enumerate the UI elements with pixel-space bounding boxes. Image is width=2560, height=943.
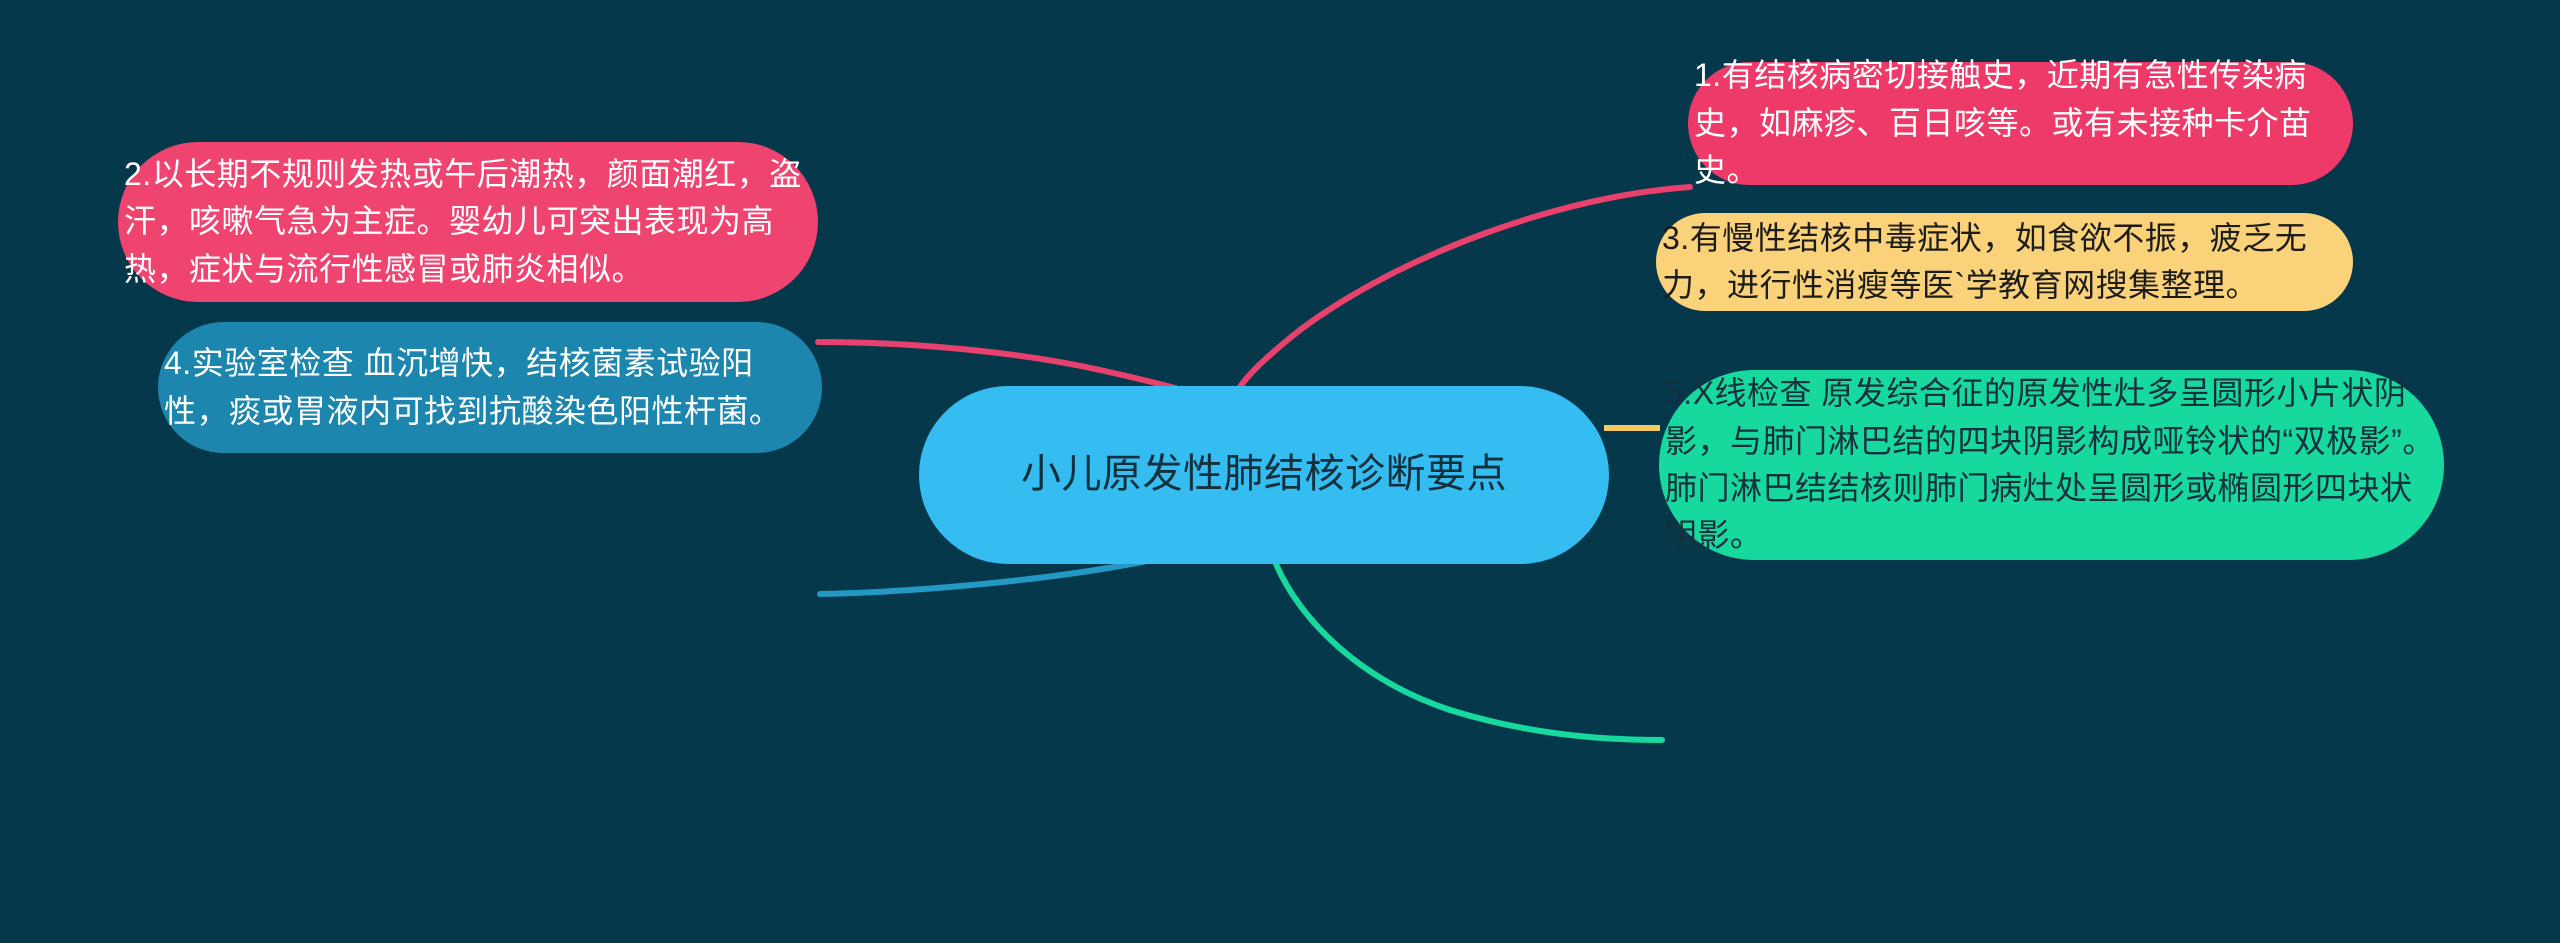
connector-node-2 xyxy=(818,342,1186,391)
connector-node-1 xyxy=(1238,187,1690,390)
mindmap-branch-node-2[interactable]: 2.以长期不规则发热或午后潮热，颜面潮红，盗汗，咳嗽气急为主症。婴幼儿可突出表现… xyxy=(118,142,818,302)
mindmap-branch-node-1[interactable]: 1.有结核病密切接触史，近期有急性传染病史，如麻疹、百日咳等。或有未接种卡介苗史… xyxy=(1688,62,2353,185)
mindmap-branch-node-5[interactable]: 5.X线检查 原发综合征的原发性灶多呈圆形小片状阴影，与肺门淋巴结的四块阴影构成… xyxy=(1659,370,2444,560)
center-node-label: 小儿原发性肺结核诊断要点 xyxy=(919,445,1609,504)
branch-node-1-label: 1.有结核病密切接触史，近期有急性传染病史，如麻疹、百日咳等。或有未接种卡介苗史… xyxy=(1688,52,2353,194)
connector-node-5 xyxy=(1276,564,1662,740)
mindmap-canvas: 小儿原发性肺结核诊断要点 1.有结核病密切接触史，近期有急性传染病史，如麻疹、百… xyxy=(0,0,2560,943)
branch-node-3-label: 3.有慢性结核中毒症状，如食欲不振，疲乏无力，进行性消瘦等医`学教育网搜集整理。 xyxy=(1656,215,2353,310)
mindmap-center-node[interactable]: 小儿原发性肺结核诊断要点 xyxy=(919,386,1609,564)
mindmap-branch-node-4[interactable]: 4.实验室检查 血沉增快，结核菌素试验阳性，痰或胃液内可找到抗酸染色阳性杆菌。 xyxy=(158,322,822,453)
branch-node-4-label: 4.实验室检查 血沉增快，结核菌素试验阳性，痰或胃液内可找到抗酸染色阳性杆菌。 xyxy=(158,340,822,435)
branch-node-5-label: 5.X线检查 原发综合征的原发性灶多呈圆形小片状阴影，与肺门淋巴结的四块阴影构成… xyxy=(1659,370,2444,559)
branch-node-2-label: 2.以长期不规则发热或午后潮热，颜面潮红，盗汗，咳嗽气急为主症。婴幼儿可突出表现… xyxy=(118,151,818,293)
mindmap-branch-node-3[interactable]: 3.有慢性结核中毒症状，如食欲不振，疲乏无力，进行性消瘦等医`学教育网搜集整理。 xyxy=(1656,213,2353,311)
